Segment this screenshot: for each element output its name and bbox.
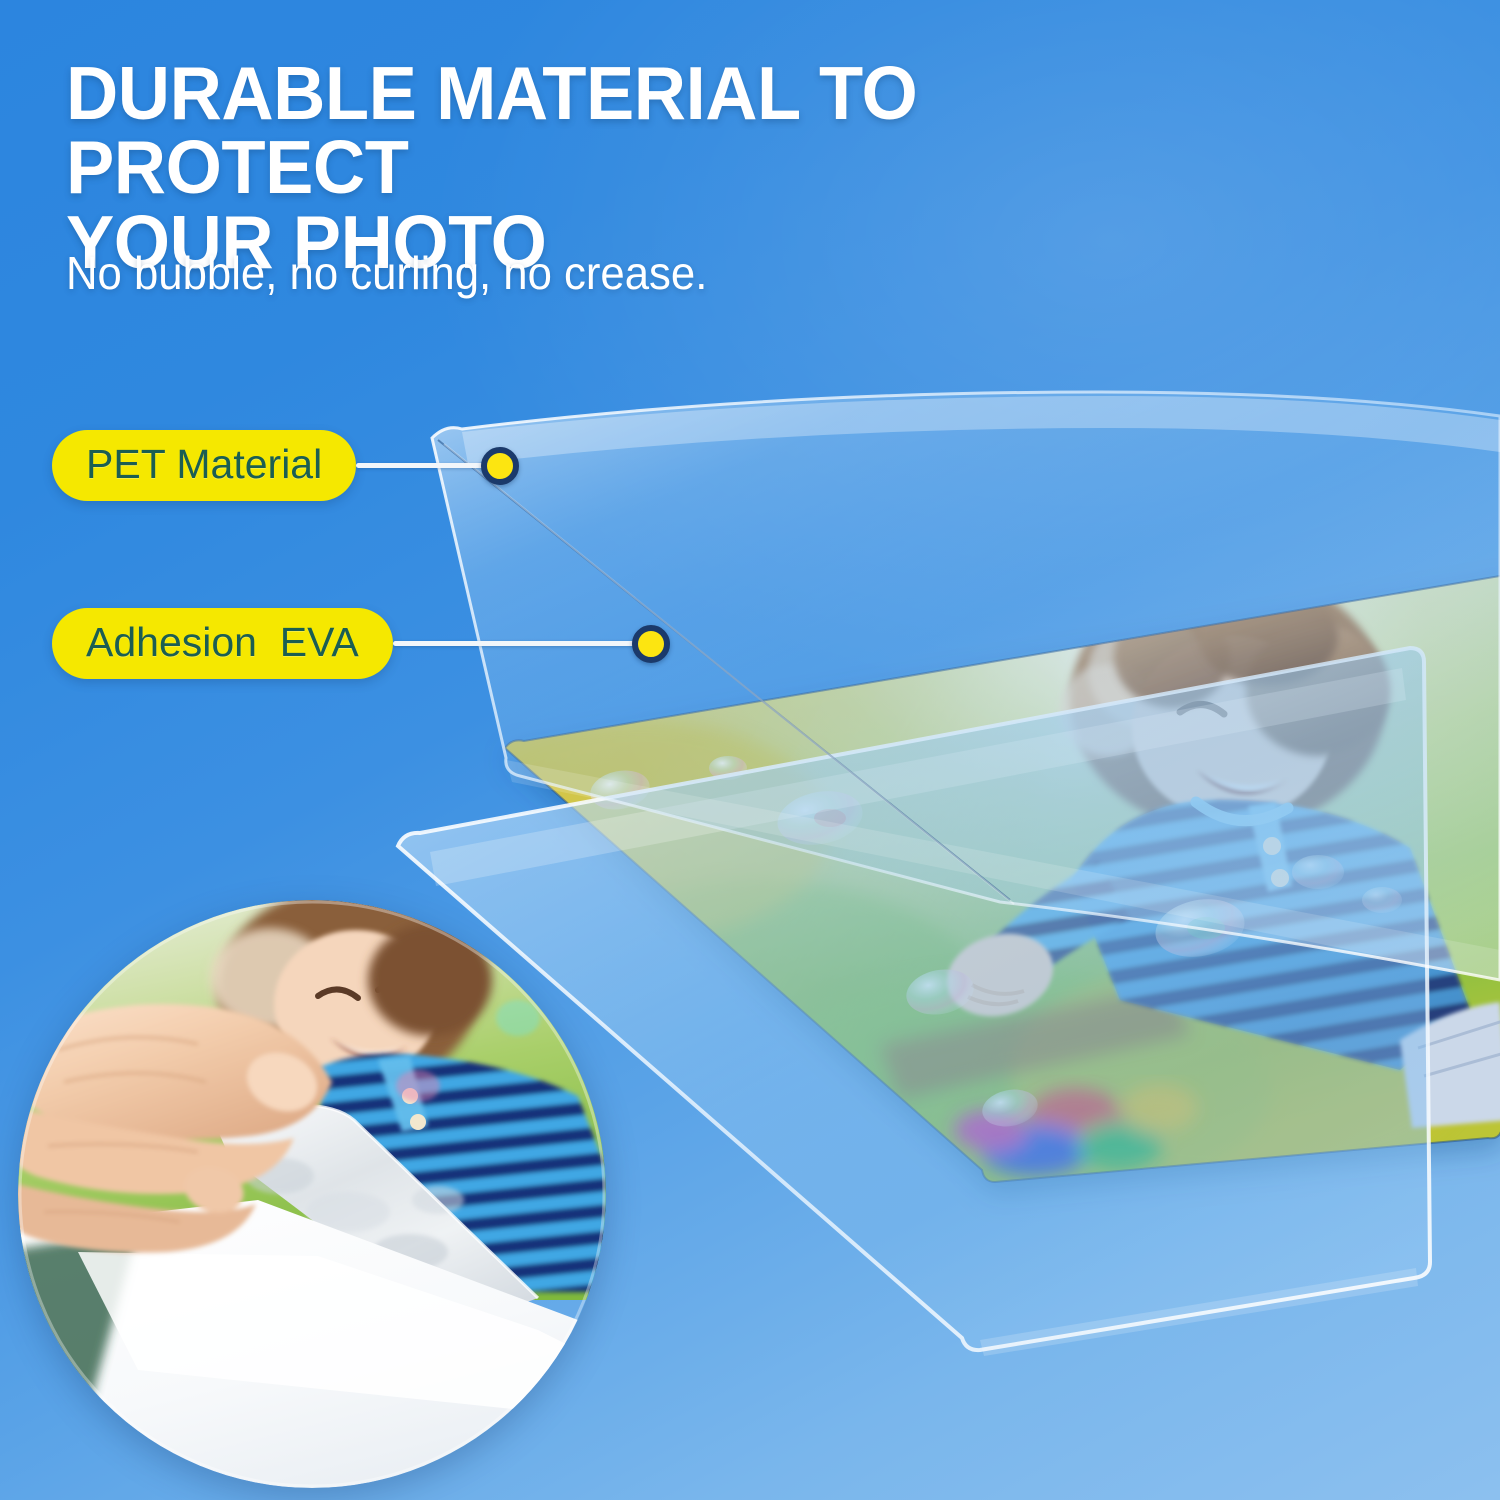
callout-eva-label[interactable]: Adhesion EVA [52, 608, 393, 679]
callout-pet-label[interactable]: PET Material [52, 430, 356, 501]
callout-eva-dot-marker [632, 625, 670, 663]
page-title: DURABLE MATERIAL TO PROTECT YOUR PHOTO [66, 56, 1243, 279]
peel-back-detail-inset [18, 900, 606, 1488]
callout-pet-material[interactable]: PET Material [52, 430, 519, 501]
page-subtitle: No bubble, no curling, no crease. [66, 248, 707, 299]
callout-pet-leader-line [356, 463, 484, 468]
callout-adhesion-eva[interactable]: Adhesion EVA [52, 608, 670, 679]
infographic-canvas: PET Material Adhesion EVA DURABLE MATERI… [0, 0, 1500, 1500]
callout-eva-leader-line [393, 641, 635, 646]
callout-pet-dot-marker [481, 447, 519, 485]
